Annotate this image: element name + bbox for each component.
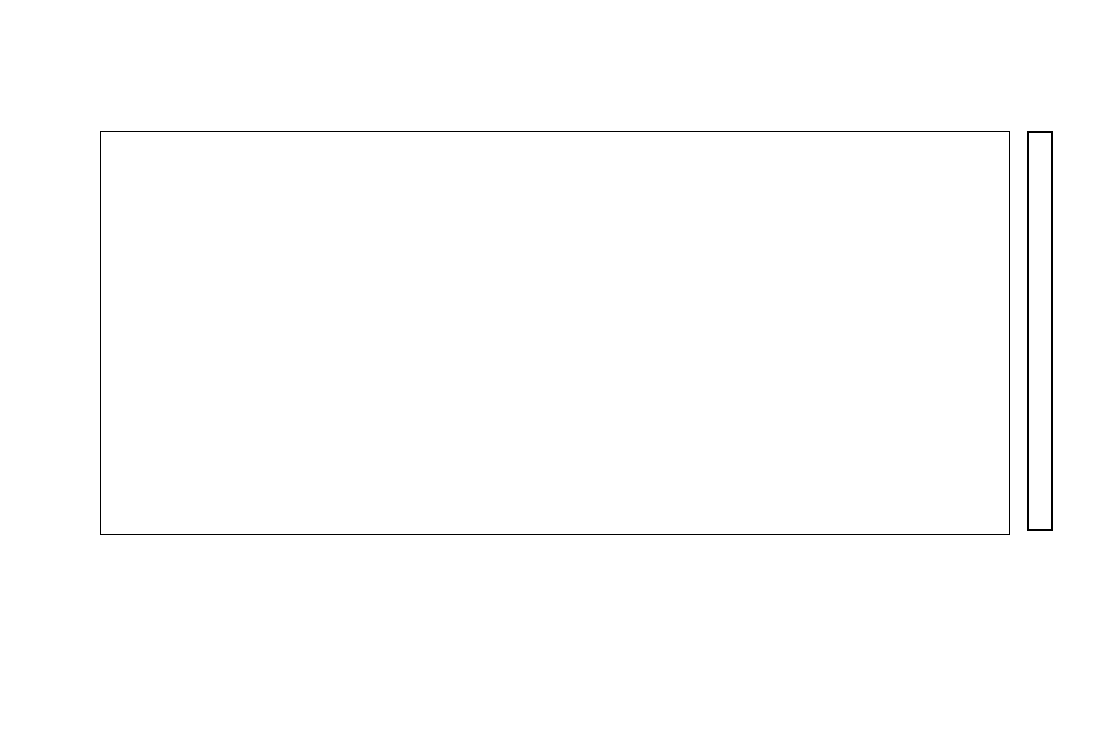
colorbar (1027, 131, 1053, 531)
heatmap-canvas (101, 132, 1009, 534)
colorbar-canvas (1029, 133, 1051, 529)
heatmap-plot-area (100, 131, 1010, 535)
